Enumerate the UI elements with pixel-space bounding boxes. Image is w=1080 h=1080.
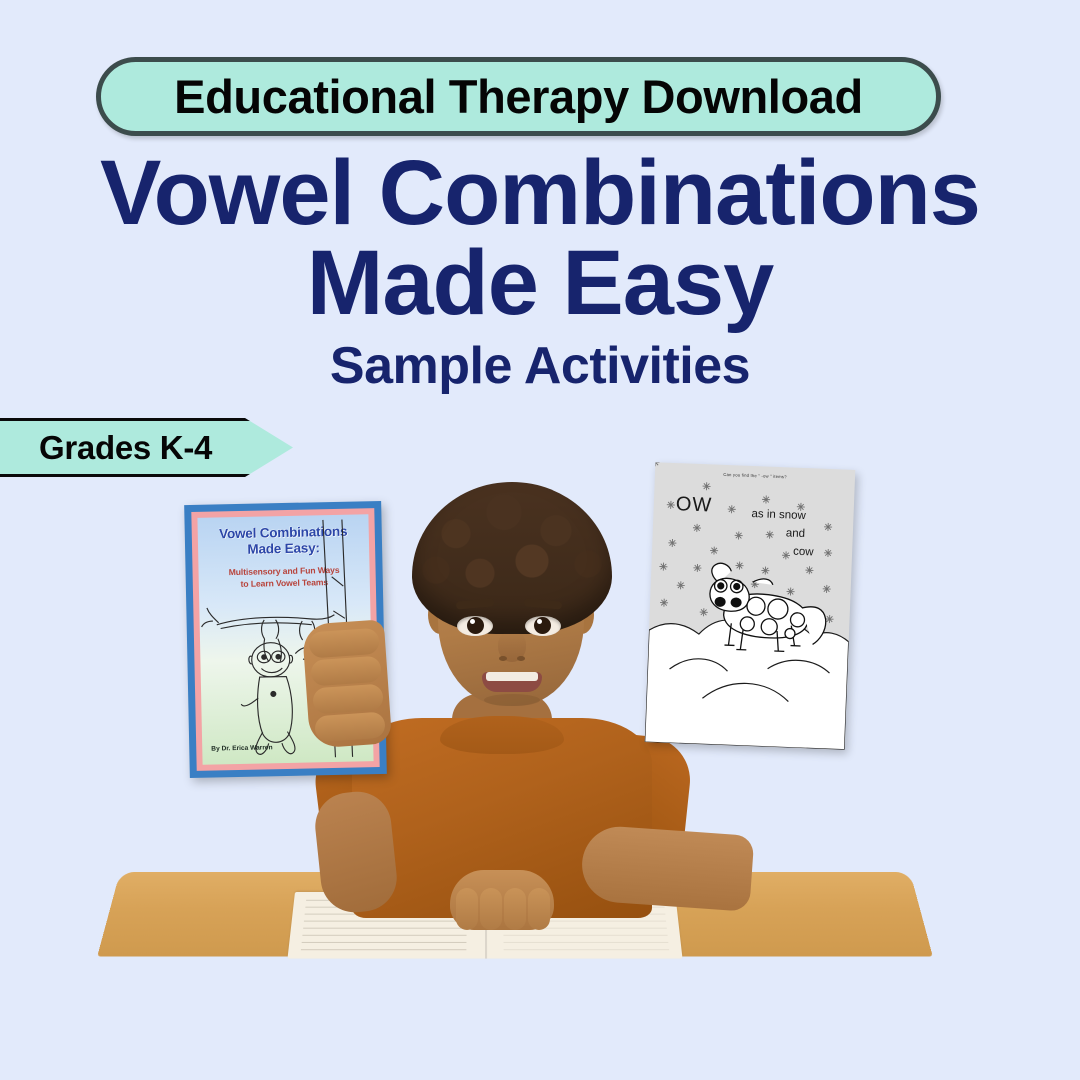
nostril-left	[499, 656, 507, 661]
page-title: Vowel Combinations Made Easy	[0, 148, 1080, 328]
smiling-mouth	[482, 672, 542, 692]
worksheet-line-3: cow	[793, 546, 814, 559]
student-holding-workbook-photo: Can you find the " -ow " items? OW as in…	[120, 400, 960, 960]
title-line-1: Vowel Combinations	[0, 148, 1080, 238]
title-line-2: Made Easy	[0, 238, 1080, 328]
nostril-right	[517, 656, 525, 661]
shirt-collar	[440, 716, 564, 754]
hand-left-holding-workbook	[302, 619, 392, 748]
finger	[528, 888, 550, 930]
hand-right-on-notebook	[450, 870, 554, 930]
knuckle	[314, 711, 386, 742]
educational-therapy-download-badge: Educational Therapy Download	[96, 57, 941, 136]
finger	[504, 888, 526, 930]
worksheet-line-2: and	[786, 527, 806, 540]
ow-vowel-team-worksheet: Can you find the " -ow " items? OW as in…	[645, 462, 856, 749]
hair	[412, 482, 612, 634]
chin-shadow	[484, 694, 540, 706]
finger	[456, 888, 478, 930]
eye-glint-left	[470, 619, 475, 624]
workbook-author: By Dr. Erica Warren	[211, 744, 272, 752]
page-subtitle: Sample Activities	[0, 340, 1080, 392]
knuckle	[312, 684, 384, 715]
top-badge-label: Educational Therapy Download	[174, 73, 863, 120]
arm-right-resting	[580, 824, 755, 912]
teeth	[486, 672, 538, 681]
eye-glint-right	[537, 619, 542, 624]
knuckle	[310, 656, 382, 687]
finger	[480, 888, 502, 930]
worksheet-line-1: as in snow	[751, 508, 806, 522]
worksheet-vowel-team: OW	[675, 493, 712, 517]
knuckle	[308, 628, 380, 659]
